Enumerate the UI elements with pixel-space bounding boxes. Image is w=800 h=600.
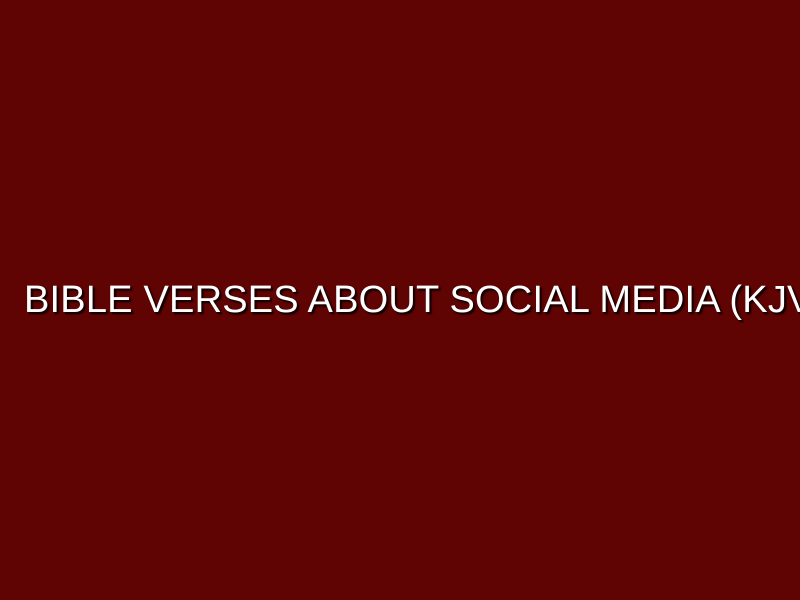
page-title: BIBLE VERSES ABOUT SOCIAL MEDIA (KJV): [24, 279, 800, 322]
poster-canvas: BIBLE VERSES ABOUT SOCIAL MEDIA (KJV): [0, 0, 800, 600]
title-block: BIBLE VERSES ABOUT SOCIAL MEDIA (KJV): [0, 279, 800, 322]
